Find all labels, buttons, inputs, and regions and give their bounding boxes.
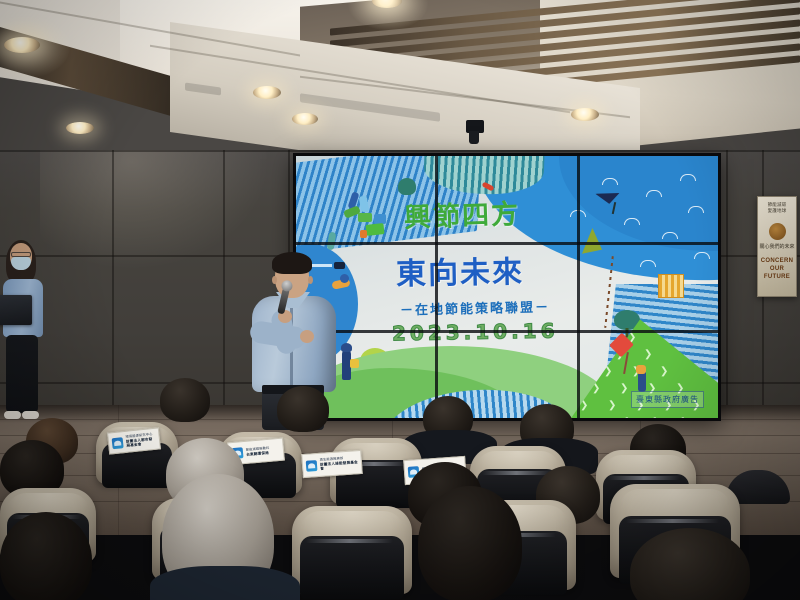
- staff-member-with-laptop: [0, 243, 46, 425]
- plaque-english-line3: FUTURE: [764, 273, 790, 281]
- staff-shoe-right: [22, 411, 39, 419]
- slide-title-char-1: 興節四方: [404, 199, 521, 234]
- downlight-1: [4, 37, 40, 53]
- chair-name-card: 再生能源推廣部 財團法人綠能發展基金會: [301, 450, 363, 478]
- staff-legs: [6, 335, 38, 413]
- name-card-org: 財團法人綠能發展基金會: [320, 460, 359, 471]
- cloud-wave-icon: [688, 206, 704, 213]
- name-card-text: 再生能源推廣部 財團法人綠能發展基金會: [320, 456, 359, 472]
- audience-head: [277, 386, 329, 432]
- audience-head-foreground: [0, 512, 92, 600]
- organization-logo-icon: [306, 460, 318, 472]
- cloud-wave-icon: [646, 190, 662, 197]
- person-illustration-head: [341, 343, 352, 352]
- plaque-english-line1: CONCERN: [761, 257, 793, 265]
- wall-light-sheen: [40, 150, 270, 270]
- video-wall-bezel-v2: [577, 156, 580, 418]
- downlight-3: [253, 86, 281, 99]
- bag-illustration: [350, 359, 359, 368]
- cloud-wave-icon: [602, 178, 618, 185]
- downlight-6: [571, 108, 599, 121]
- audience-head: [160, 378, 210, 422]
- downlight-2: [66, 122, 94, 134]
- slide-title-line2: 東向未來: [396, 247, 525, 293]
- cloud-wave-icon: [694, 252, 710, 259]
- organization-logo-icon: [112, 437, 124, 449]
- downlight-4: [292, 113, 318, 125]
- speaker-ear-left: [272, 276, 277, 284]
- cloud-wave-icon: [662, 232, 678, 239]
- name-card-org: 財團法人都市發展基金會: [126, 437, 157, 449]
- figure-illustration: [365, 223, 384, 236]
- slide-subtitle: －在地節能策略聯盟－: [400, 296, 550, 318]
- conference-hall-photo: ❯ ❯ ❯ ❯ ❯ ❯ ❯ ❯ ❯ ❯ ❯ ❯ ❯ ❯ ❯ ❯ ❯ ❯ ❯ ❯: [0, 0, 800, 600]
- video-wall-bezel-h2: [296, 330, 718, 333]
- laptop-icon: [0, 295, 32, 325]
- audience-shoulders-foreground: [150, 566, 300, 600]
- tree-illustration: [398, 178, 416, 195]
- video-wall-bezel-h1: [296, 242, 718, 245]
- speaker-hand-left: [300, 330, 314, 343]
- ceiling: [0, 0, 800, 175]
- presentation-slide: ❯ ❯ ❯ ❯ ❯ ❯ ❯ ❯ ❯ ❯ ❯ ❯ ❯ ❯ ❯ ❯ ❯ ❯ ❯ ❯: [296, 156, 718, 418]
- plaque-seal-icon: [769, 223, 786, 240]
- speaker-hair: [272, 252, 312, 274]
- cloud-wave-icon: [624, 218, 640, 225]
- plaque-chinese-text: 關心我們的未來: [759, 244, 794, 251]
- auditorium-seat[interactable]: [292, 506, 412, 594]
- slide-title-line2-text: 東向未來: [396, 255, 525, 292]
- figure-illustration: [360, 230, 367, 238]
- name-card-text: 節能減碳推動科 台東縣環保局: [246, 446, 270, 457]
- video-wall-display[interactable]: ❯ ❯ ❯ ❯ ❯ ❯ ❯ ❯ ❯ ❯ ❯ ❯ ❯ ❯ ❯ ❯ ❯ ❯ ❯ ❯: [293, 153, 721, 421]
- slide-title-line1: 興節四方: [403, 192, 520, 235]
- cloud-wave-icon: [680, 174, 696, 181]
- wall-plaque: 節能減碳 愛護地球 關心我們的未來 CONCERN OUR FUTURE: [757, 196, 797, 297]
- staff-shoe-left: [4, 411, 21, 419]
- plaque-top-line2: 愛護地球: [768, 208, 787, 214]
- name-card-text: 環保能源研究中心 財團法人都市發展基金會: [125, 432, 156, 448]
- audience-head-foreground: [418, 486, 522, 600]
- speaker-ear-right: [308, 276, 313, 284]
- figure-illustration: [358, 213, 372, 222]
- structure-illustration: [658, 274, 684, 298]
- video-wall-bezel-v1: [435, 156, 438, 418]
- plaque-english-line2: OUR: [770, 265, 784, 273]
- slide-credit: 臺東縣政府廣告: [631, 391, 704, 408]
- person-illustration-top: [636, 365, 646, 374]
- ceiling-camera-icon: [466, 120, 484, 133]
- cloud-wave-icon: [640, 260, 656, 267]
